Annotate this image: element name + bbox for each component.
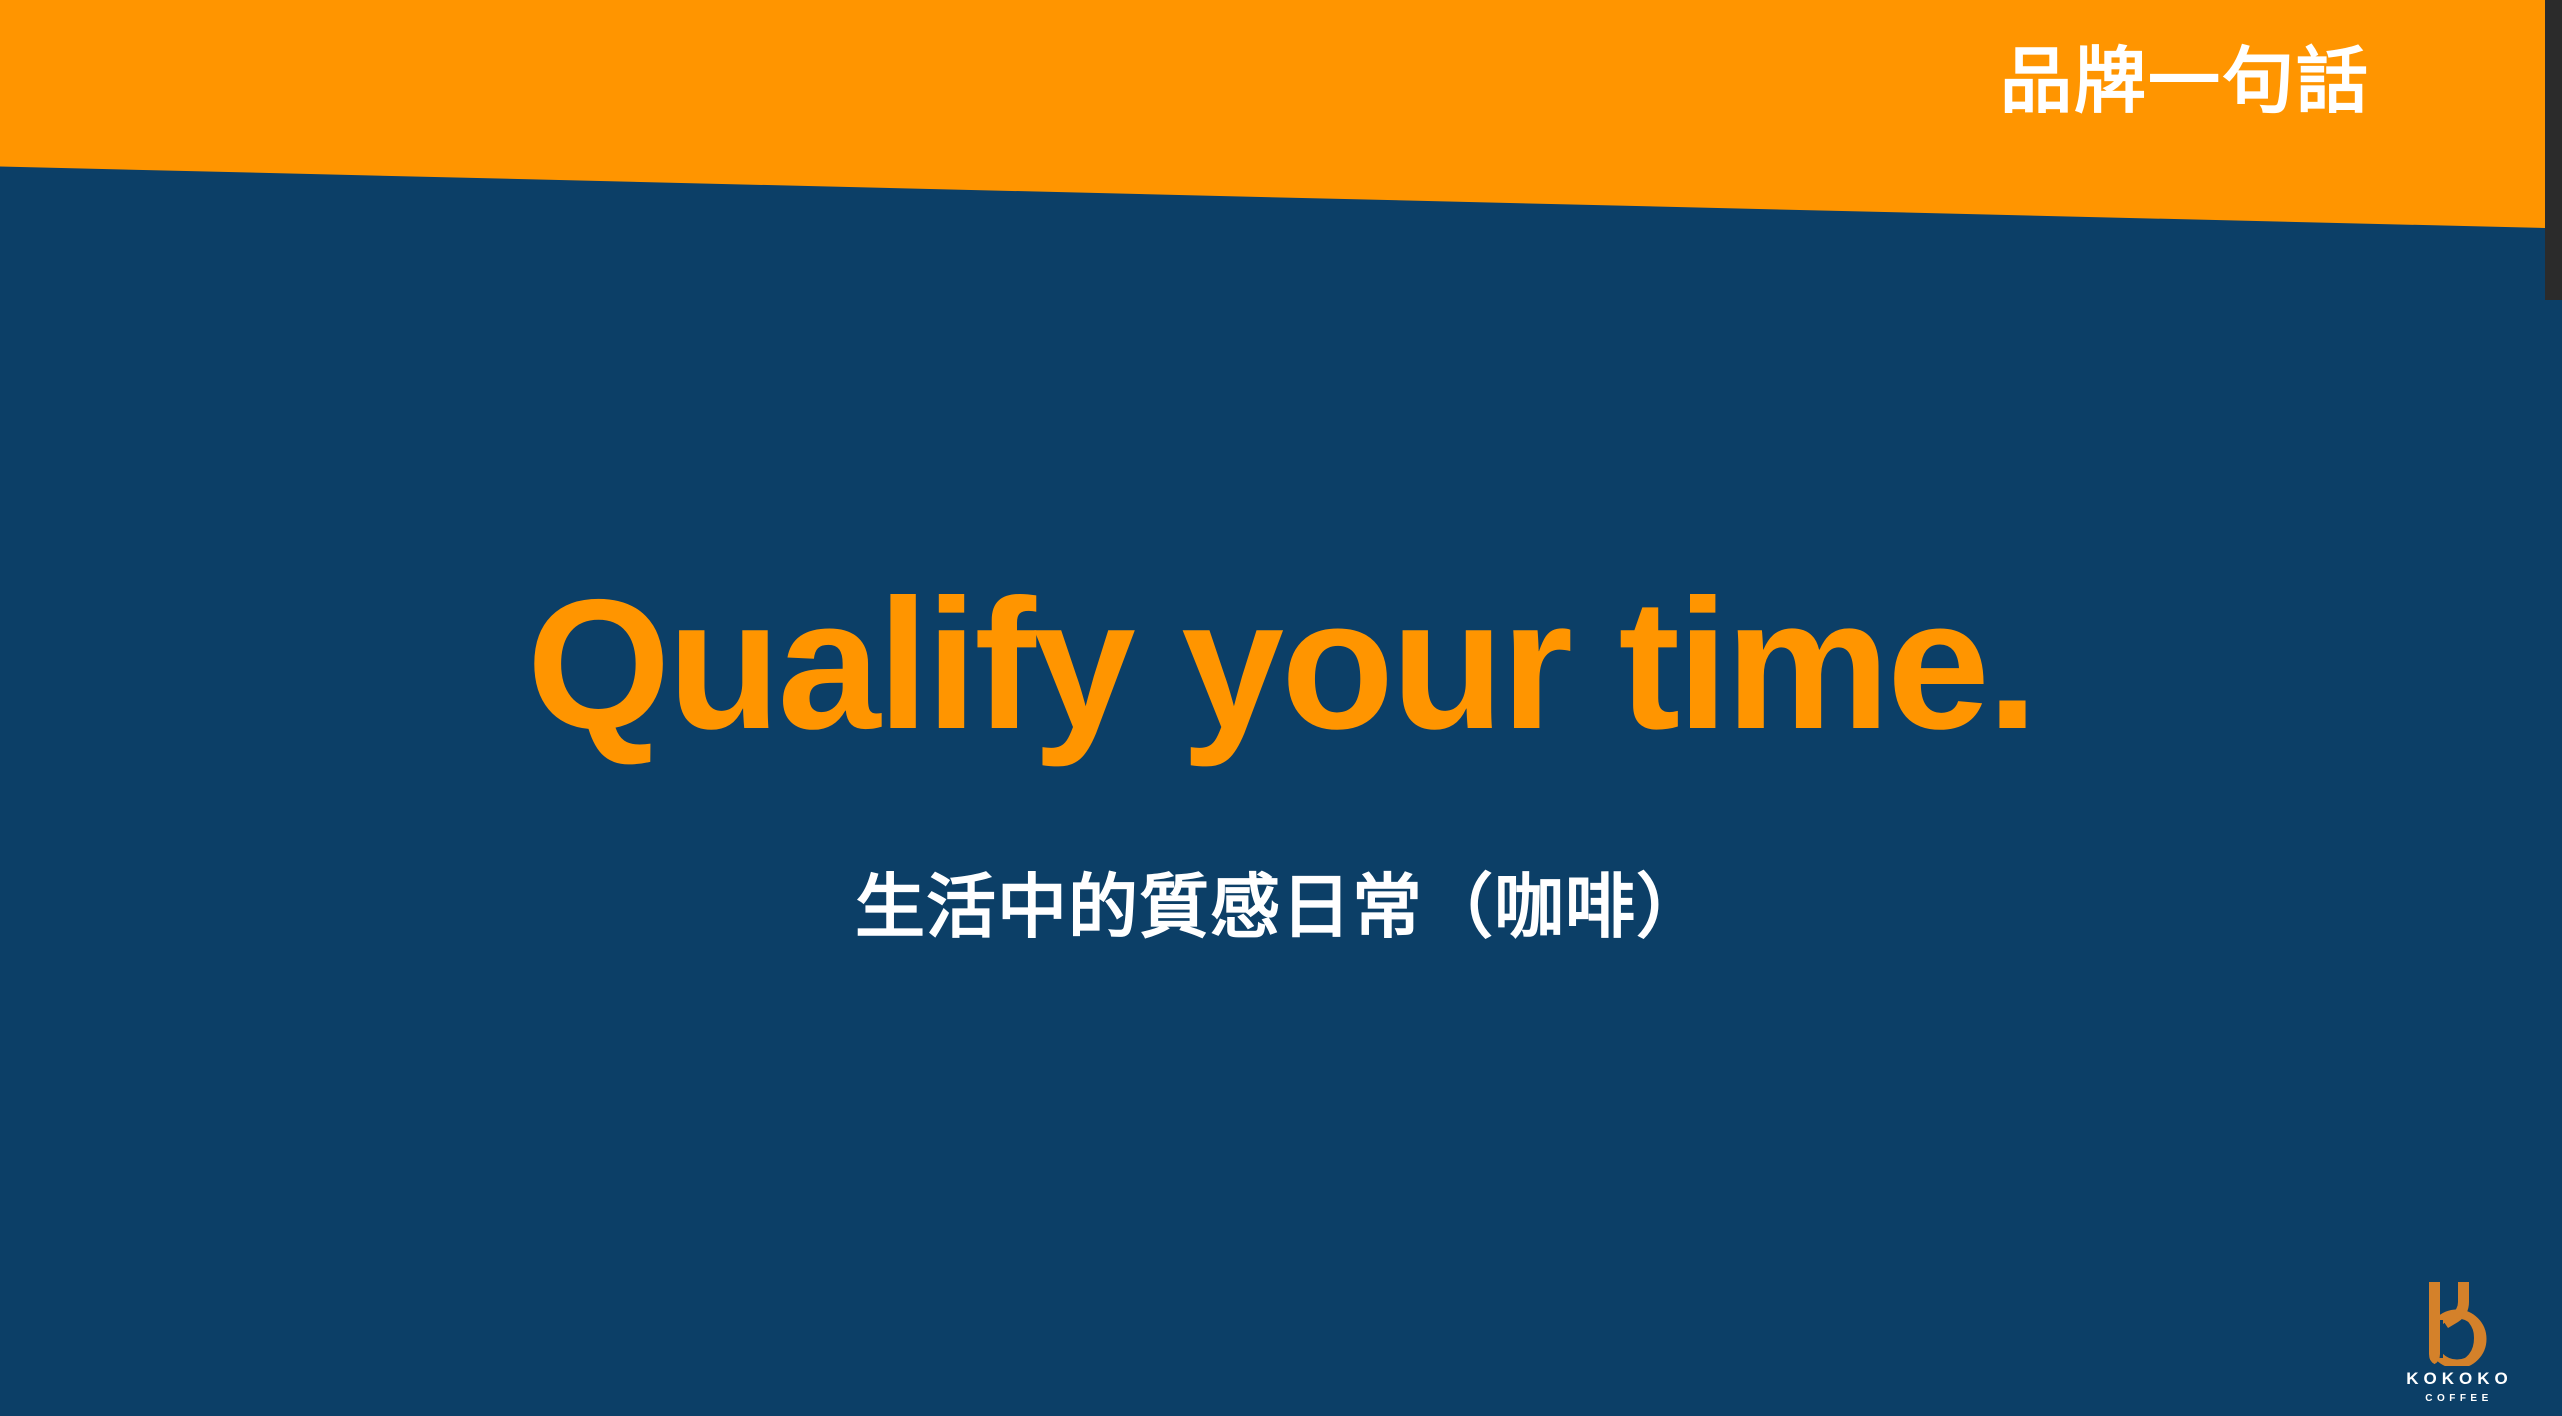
right-edge-strip — [2545, 0, 2562, 300]
headline-text: Qualify your time. — [0, 573, 2562, 758]
presentation-slide: 品牌一句話 Qualify your time. 生活中的質感日常（咖啡） KO… — [0, 0, 2562, 1416]
logo-tagline: COFFEE — [2382, 1394, 2532, 1404]
logo-wordmark: KOKOKO — [2382, 1370, 2532, 1387]
kokoko-k-monogram-icon — [2411, 1280, 2503, 1366]
subtitle-text: 生活中的質感日常（咖啡） — [0, 865, 2562, 949]
banner-label: 品牌一句話 — [2000, 40, 2370, 125]
slide-body: Qualify your time. 生活中的質感日常（咖啡） — [0, 300, 2562, 1416]
brand-logo: KOKOKO COFFEE — [2382, 1280, 2532, 1404]
